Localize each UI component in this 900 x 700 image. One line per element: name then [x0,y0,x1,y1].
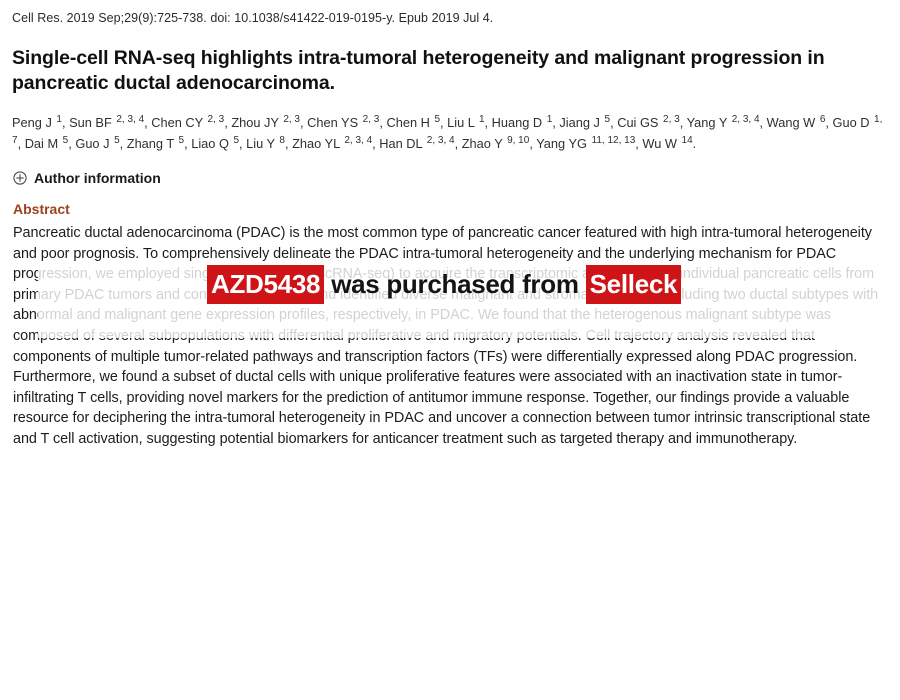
author-name[interactable]: Wang W [767,115,819,130]
author-name[interactable]: Jiang J [559,115,603,130]
article-title: Single-cell RNA-seq highlights intra-tum… [12,46,842,96]
abstract-heading: Abstract [13,201,890,217]
author-separator: , [455,136,462,151]
author-information-toggle[interactable]: Author information [13,170,890,186]
author-name[interactable]: Yang YG [536,136,590,151]
abstract-body: Pancreatic ductal adenocarcinoma (PDAC) … [13,223,889,450]
author-name[interactable]: Sun BF [69,115,115,130]
author-affiliation[interactable]: 14 [681,135,693,146]
author-affiliation[interactable]: 2, 3 [207,114,225,125]
author-separator: , [680,115,687,130]
author-name[interactable]: Chen YS [307,115,362,130]
author-name[interactable]: Liu L [447,115,478,130]
author-name[interactable]: Wu W [642,136,680,151]
author-information-label: Author information [34,170,161,186]
author-name[interactable]: Zhao YL [292,136,343,151]
author-affiliation[interactable]: 2, 3 [362,114,380,125]
author-separator: , [760,115,767,130]
author-name[interactable]: Zhou JY [231,115,282,130]
author-name[interactable]: Peng J [12,115,55,130]
author-affiliation[interactable]: 2, 3, 4 [426,135,455,146]
author-separator: , [825,115,832,130]
promo-compound-name: AZD5438 [207,265,324,304]
author-affiliation[interactable]: 2, 3, 4 [343,135,372,146]
author-affiliation[interactable]: 2, 3, 4 [115,114,144,125]
author-name[interactable]: Guo J [75,136,113,151]
author-name[interactable]: Yang Y [687,115,731,130]
author-separator: , [18,136,25,151]
promo-overlay: AZD5438 was purchased from Selleck [207,267,707,301]
author-name[interactable]: Guo D [833,115,874,130]
author-affiliation[interactable]: 9, 10 [506,135,529,146]
author-name[interactable]: Chen CY [151,115,206,130]
author-affiliation[interactable]: 11, 12, 13 [591,135,636,146]
promo-vendor-name: Selleck [586,265,682,304]
plus-circle-icon[interactable] [13,171,27,185]
author-separator: . [693,136,697,151]
author-affiliation[interactable]: 2, 3 [282,114,300,125]
author-name[interactable]: Chen H [386,115,433,130]
article-page: Cell Res. 2019 Sep;29(9):725-738. doi: 1… [0,0,900,700]
author-name[interactable]: Huang D [492,115,546,130]
author-name[interactable]: Cui GS [617,115,662,130]
author-affiliation[interactable]: 2, 3, 4 [731,114,760,125]
author-name[interactable]: Zhang T [127,136,178,151]
journal-citation: Cell Res. 2019 Sep;29(9):725-738. doi: 1… [12,10,890,26]
author-name[interactable]: Zhao Y [462,136,506,151]
author-name[interactable]: Dai M [25,136,62,151]
author-name[interactable]: Han DL [379,136,425,151]
author-list: Peng J 1, Sun BF 2, 3, 4, Chen CY 2, 3, … [12,112,890,154]
author-affiliation[interactable]: 2, 3 [662,114,680,125]
author-name[interactable]: Liu Y [246,136,278,151]
author-name[interactable]: Liao Q [191,136,232,151]
abstract-text: Pancreatic ductal adenocarcinoma (PDAC) … [13,225,878,447]
author-separator: , [485,115,492,130]
promo-middle-text: was purchased from [324,267,585,301]
author-separator: , [120,136,127,151]
